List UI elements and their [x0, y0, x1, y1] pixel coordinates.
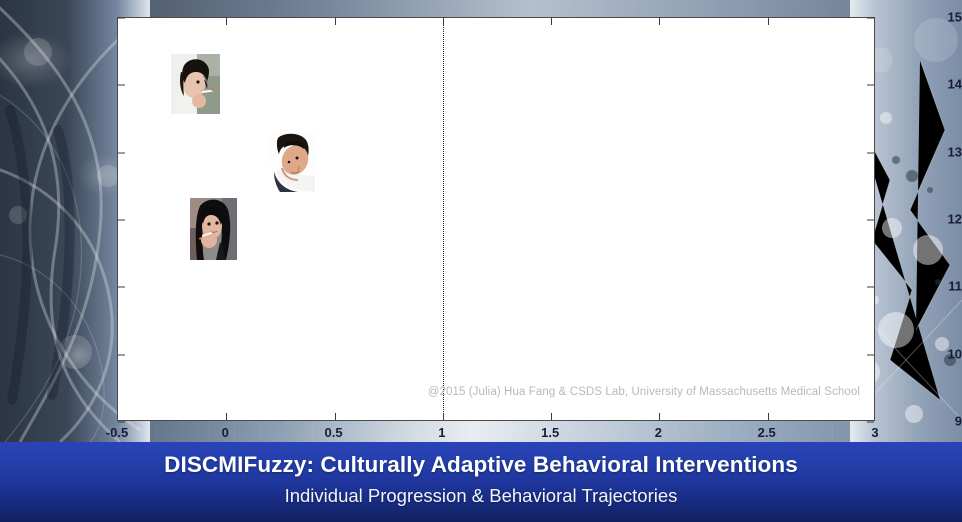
photo-man-white-shirt[interactable]: [264, 132, 315, 192]
x-axis-tick-label: 2: [655, 425, 662, 440]
y-axis-tick-mark: [118, 220, 125, 221]
y-axis-tick-label: 12: [851, 212, 962, 227]
scatter-plot-area: @2015 (Julia) Hua Fang & CSDS Lab, Unive…: [117, 17, 875, 421]
x-axis-tick-mark: [659, 413, 660, 420]
y-axis-tick-mark: [118, 422, 125, 423]
x-axis-tick-label: 3: [871, 425, 878, 440]
photo-woman-smoking[interactable]: [190, 198, 237, 260]
reference-line-vertical: [443, 18, 444, 420]
slide-canvas: @2015 (Julia) Hua Fang & CSDS Lab, Unive…: [0, 0, 962, 522]
y-axis-tick-mark: [118, 85, 125, 86]
photo-young-man-smoking[interactable]: [171, 54, 220, 114]
x-axis-tick-label: 0.5: [325, 425, 343, 440]
y-axis-tick-label: 9: [851, 414, 962, 429]
photo-woman-smoking-image: [190, 198, 237, 260]
x-axis-tick-mark: [551, 413, 552, 420]
x-axis-tick-label: 1: [438, 425, 445, 440]
x-axis-tick-mark: [768, 413, 769, 420]
photo-man-white-shirt-image: [264, 132, 315, 192]
title-banner: DISCMIFuzzy: Culturally Adaptive Behavio…: [0, 442, 962, 522]
x-axis-tick-mark: [659, 18, 660, 25]
x-axis-tick-mark: [443, 18, 444, 25]
y-axis-tick-label: 15: [851, 10, 962, 25]
x-axis-tick-mark: [226, 413, 227, 420]
x-axis-tick-label: 2.5: [758, 425, 776, 440]
x-axis-tick-label: 1.5: [541, 425, 559, 440]
y-axis-tick-mark: [118, 152, 125, 153]
y-axis-tick-label: 11: [851, 279, 962, 294]
x-axis-tick-mark: [768, 18, 769, 25]
y-axis-tick-mark: [118, 18, 125, 19]
x-axis-tick-mark: [335, 413, 336, 420]
photo-young-man-smoking-image: [171, 54, 220, 114]
y-axis-tick-mark: [118, 354, 125, 355]
banner-subtitle: Individual Progression & Behavioral Traj…: [0, 478, 962, 507]
y-axis-tick-mark: [118, 287, 125, 288]
y-axis-tick-label: 14: [851, 77, 962, 92]
x-axis-tick-mark: [335, 18, 336, 25]
copyright-credit: @2015 (Julia) Hua Fang & CSDS Lab, Unive…: [428, 386, 860, 398]
x-axis-tick-label: 0: [222, 425, 229, 440]
y-axis-tick-label: 10: [851, 346, 962, 361]
x-axis-tick-mark: [551, 18, 552, 25]
x-axis-tick-label: -0.5: [106, 425, 128, 440]
banner-title: DISCMIFuzzy: Culturally Adaptive Behavio…: [0, 442, 962, 478]
y-axis-tick-label: 13: [851, 144, 962, 159]
x-axis-tick-mark: [443, 413, 444, 420]
x-axis-tick-mark: [226, 18, 227, 25]
